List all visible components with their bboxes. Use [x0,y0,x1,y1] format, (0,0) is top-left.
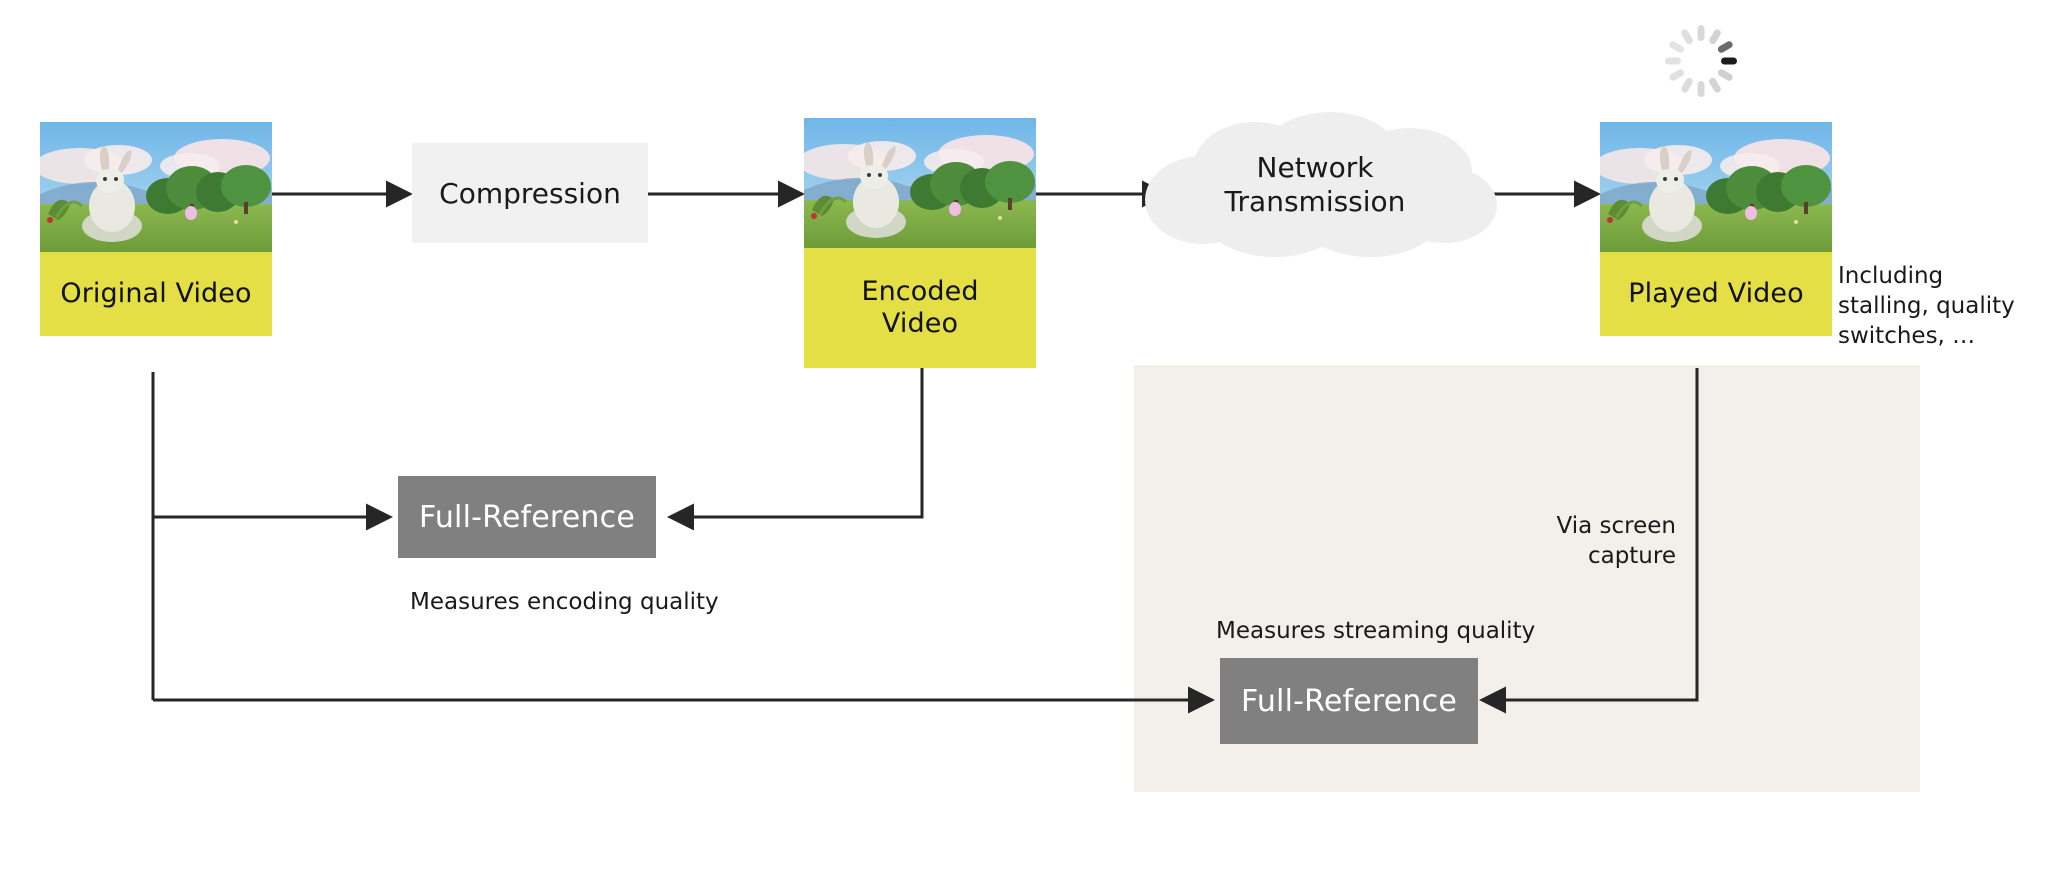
via-screen-capture-caption: Via screen capture [1480,512,1676,572]
played-video-thumbnail [1600,122,1832,252]
arrow-encoded-to-fr-encoding [670,368,922,517]
network-label-line2: Transmission [1225,185,1406,219]
via-screen-capture-line1: Via screen [1480,512,1676,542]
played-video-label: Played Video [1600,252,1832,336]
original-video-label: Original Video [40,252,272,336]
original-video-thumbnail [40,122,272,252]
impairments-note: Including stalling, quality switches, … [1838,262,2038,352]
encoded-video-thumbnail [804,118,1036,248]
network-transmission-cloud[interactable]: Network Transmission [1125,110,1505,260]
node-encoded-video[interactable]: Encoded Video [804,118,1036,368]
node-played-video[interactable]: Played Video [1600,122,1832,336]
measures-encoding-quality-caption: Measures encoding quality [410,588,750,618]
network-label-line1: Network [1257,151,1374,185]
full-reference-streaming-box[interactable]: Full-Reference [1220,658,1478,744]
impairments-note-line1: Including [1838,262,2038,292]
encoded-video-label-line2: Video [882,308,958,340]
encoded-video-label-line1: Encoded [861,276,978,308]
buffering-spinner-icon [1658,18,1744,104]
impairments-note-line3: switches, … [1838,322,2038,352]
encoded-video-label: Encoded Video [804,248,1036,368]
node-original-video[interactable]: Original Video [40,122,272,336]
full-reference-encoding-box[interactable]: Full-Reference [398,476,656,558]
compression-box[interactable]: Compression [412,143,648,243]
via-screen-capture-line2: capture [1480,542,1676,572]
network-transmission-label: Network Transmission [1125,110,1505,260]
impairments-note-line2: stalling, quality [1838,292,2038,322]
measures-streaming-quality-caption: Measures streaming quality [1216,617,1556,647]
